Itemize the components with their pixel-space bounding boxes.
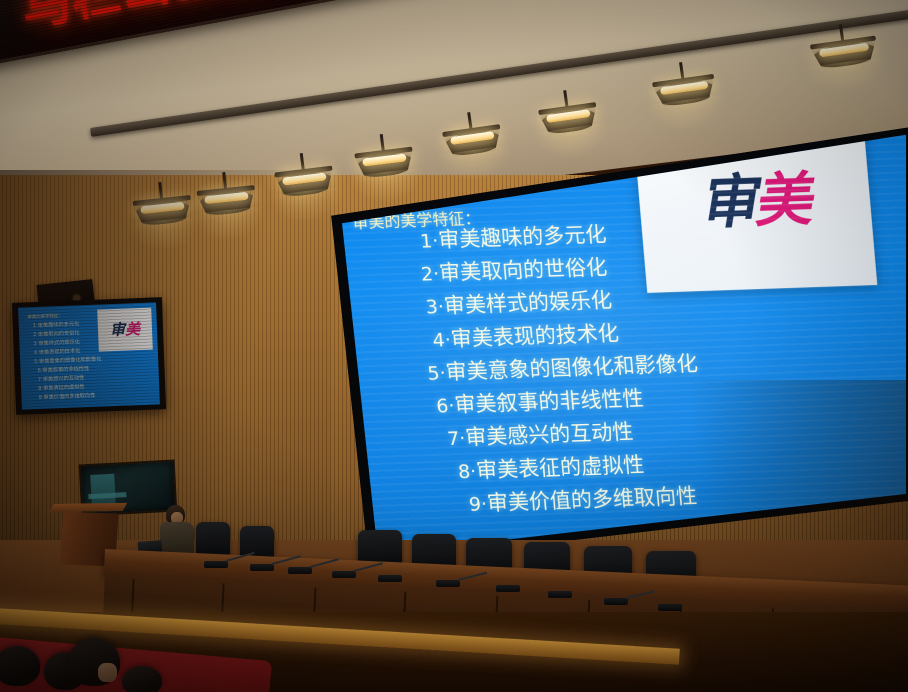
audience-head — [0, 646, 40, 686]
audience-head — [122, 666, 162, 692]
slide-item-text: 审美感兴的互动性 — [464, 420, 634, 450]
audience-head — [68, 638, 120, 686]
slide-item-number: 9· — [468, 493, 488, 516]
calligraphy-char-shen: 审 — [696, 167, 756, 237]
seated-speaker — [160, 505, 194, 557]
microphone — [378, 575, 402, 582]
slide-item-number: 1· — [419, 230, 439, 253]
microphone — [548, 591, 572, 598]
microphone — [204, 561, 228, 568]
microphone — [332, 571, 356, 578]
slide-item-number: 3· — [425, 296, 445, 319]
microphone — [604, 598, 628, 605]
slide-item-number: 8· — [457, 460, 477, 483]
stage-light — [442, 124, 504, 162]
stage-light — [354, 147, 415, 184]
slide-item-text: 审美表征的虚拟性 — [475, 453, 645, 483]
slide-list-item: 4·审美表现的技术化 — [432, 320, 696, 350]
slide-item-number: 4· — [432, 329, 452, 352]
microphone — [436, 580, 460, 587]
stage-light — [538, 102, 600, 140]
calligraphy-char-mei: 美 — [750, 165, 814, 235]
slide-item-number: 2· — [420, 263, 440, 286]
microphone — [250, 564, 274, 571]
slide-item-text: 审美趣味的多元化 — [437, 222, 607, 252]
microphone — [496, 585, 520, 592]
window-railing — [88, 492, 127, 499]
slide-item-text: 审美样式的娱乐化 — [443, 288, 613, 318]
slide-item-number: 6· — [435, 395, 455, 418]
slide-item-text: 审美取向的世俗化 — [438, 255, 608, 285]
microphone — [658, 604, 682, 611]
slide-item-number: 5· — [427, 362, 447, 385]
calligraphy-text: 审美 — [696, 170, 813, 232]
slide-item-number: 7· — [446, 428, 466, 451]
slide-item-text: 审美表现的技术化 — [450, 321, 620, 351]
lecture-hall-photo: 马栏山新媒体学院新媒体与短视频运营推广 — [0, 0, 908, 692]
slide-item-text: 审美叙事的非线性性 — [453, 386, 644, 417]
podium-top — [49, 502, 127, 513]
microphone — [288, 567, 312, 574]
